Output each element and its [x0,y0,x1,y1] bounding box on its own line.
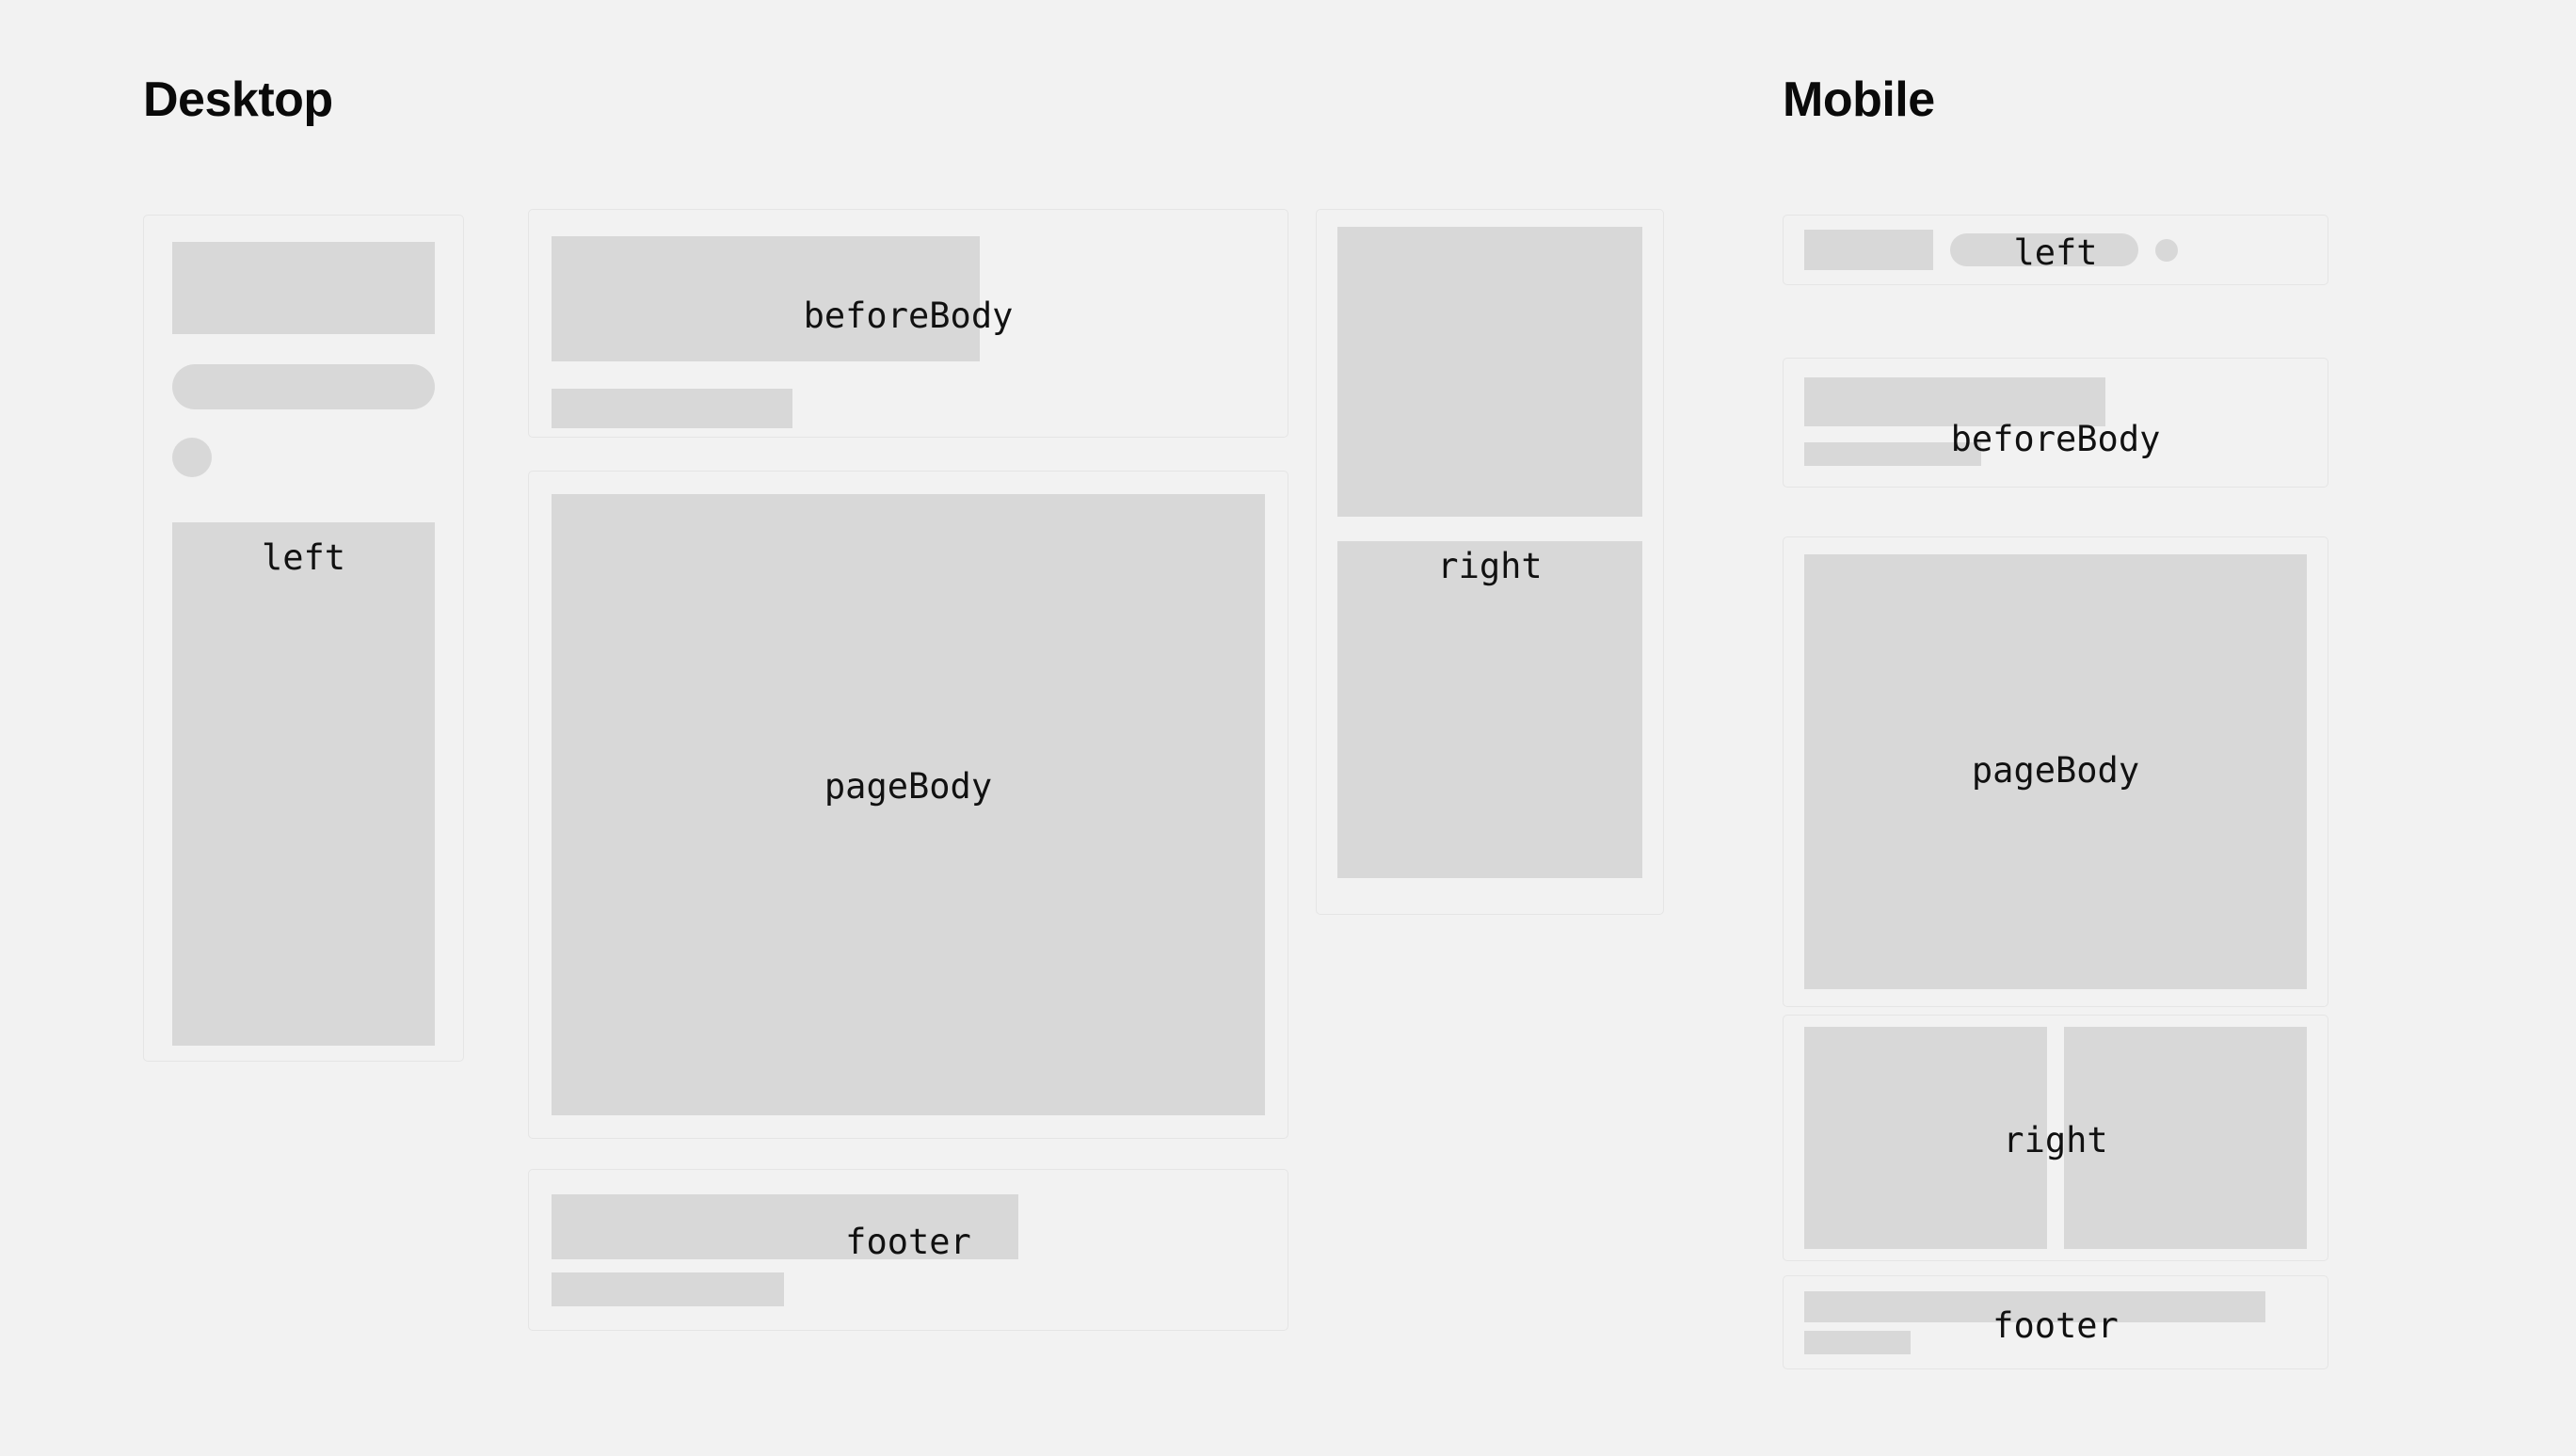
mobile-before-body-slot-panel[interactable] [1783,358,2328,488]
placeholder-block [172,242,435,334]
placeholder-block [1804,442,1981,466]
placeholder-pill [172,364,435,409]
desktop-footer-slot-content [529,1170,1288,1331]
placeholder-circle-icon [2155,239,2178,262]
desktop-before-body-slot-content [529,210,1288,455]
placeholder-block [172,522,435,1046]
mobile-left-slot-panel[interactable] [1783,215,2328,285]
placeholder-block [552,494,1265,1115]
placeholder-block [1804,1331,1911,1354]
placeholder-block [552,389,792,428]
mobile-footer-slot-content [1784,1276,2328,1369]
placeholder-block [1804,377,2105,426]
desktop-before-body-slot-panel[interactable] [528,209,1288,438]
desktop-left-slot-panel[interactable] [143,215,464,1062]
mobile-right-slot-content [1784,1016,2328,1260]
placeholder-block [2064,1027,2307,1249]
desktop-page-body-slot-content [529,472,1288,1138]
desktop-page-body-slot-panel[interactable] [528,471,1288,1139]
mobile-footer-slot-panel[interactable] [1783,1275,2328,1369]
mobile-left-slot-content [1784,216,2328,284]
placeholder-block [1337,541,1642,878]
desktop-section-title: Desktop [143,75,333,124]
placeholder-block [552,1272,784,1306]
placeholder-pill [1950,233,2138,266]
placeholder-block [552,236,980,361]
mobile-page-body-slot-content [1784,537,2328,1006]
mobile-before-body-slot-content [1784,359,2328,485]
placeholder-block [1804,1027,2047,1249]
desktop-right-slot-panel[interactable] [1316,209,1664,915]
desktop-footer-slot-panel[interactable] [528,1169,1288,1331]
placeholder-block [1337,227,1642,517]
placeholder-block [1804,1291,2265,1322]
placeholder-circle-icon [172,438,212,477]
placeholder-block [552,1194,1018,1259]
mobile-right-slot-panel[interactable] [1783,1015,2328,1261]
mobile-page-body-slot-panel[interactable] [1783,536,2328,1007]
placeholder-block [1804,230,1933,270]
placeholder-block [1804,554,2307,989]
desktop-left-slot-content [144,216,463,1061]
mobile-section-title: Mobile [1783,75,1935,124]
desktop-right-slot-content [1317,210,1663,914]
